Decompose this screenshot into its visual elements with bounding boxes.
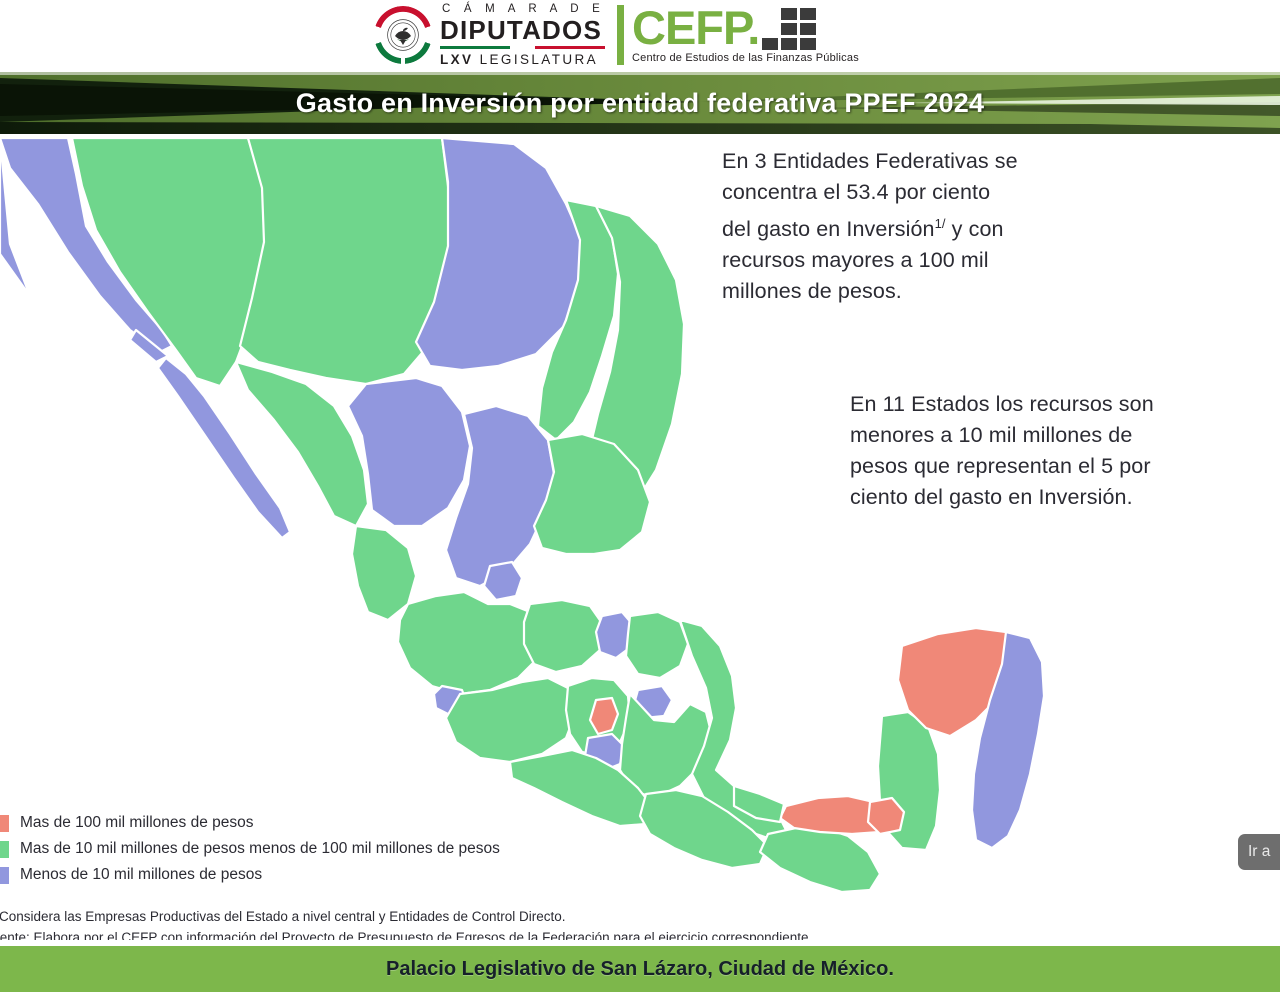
cefp-grid-icon bbox=[762, 8, 816, 50]
camara-line-2: DIPUTADOS bbox=[440, 17, 605, 43]
legend-item-menos-10-mil: Menos de 10 mil millones de pesos bbox=[0, 862, 700, 888]
footer-bar: Palacio Legislativo de San Lázaro, Ciuda… bbox=[0, 946, 1280, 992]
legend-label-0: Mas de 100 mil millones de pesos bbox=[20, 814, 253, 832]
ir-a-button[interactable]: Ir a bbox=[1238, 834, 1280, 870]
legend-swatch-green bbox=[0, 841, 9, 858]
legend-label-2: Menos de 10 mil millones de pesos bbox=[20, 866, 262, 884]
legislature-roman: LXV bbox=[440, 52, 473, 67]
callout-2-line-2: menores a 10 mil millones de bbox=[850, 420, 1265, 451]
callout-1-line-3b: y con bbox=[946, 217, 1004, 241]
camara-legislature: LXV LEGISLATURA bbox=[440, 53, 605, 67]
page-title: Gasto en Inversión por entidad federativ… bbox=[0, 72, 1280, 134]
state-jalisco[interactable] bbox=[398, 592, 542, 694]
cefp-subtitle: Centro de Estudios de las Finanzas Públi… bbox=[632, 52, 859, 64]
legend-item-mas-100-mil: Mas de 100 mil millones de pesos bbox=[0, 810, 700, 836]
callout-1-line-2: concentra el 53.4 por ciento bbox=[722, 177, 1118, 208]
callout-1-line-5: millones de pesos. bbox=[722, 276, 1118, 307]
callout-1-line-4: recursos mayores a 100 mil bbox=[722, 245, 1118, 276]
legend-label-1: Mas de 10 mil millones de pesos menos de… bbox=[20, 840, 500, 858]
map-legend: Mas de 100 mil millones de pesos Mas de … bbox=[0, 810, 700, 888]
callout-text-2: En 11 Estados los recursos son menores a… bbox=[850, 389, 1265, 513]
logo-group: C Á M A R A D E DIPUTADOS LXV LEGISLATUR… bbox=[372, 2, 859, 68]
logo-divider bbox=[617, 5, 624, 65]
state-hidalgo[interactable] bbox=[626, 612, 688, 678]
slide-body: En 3 Entidades Federativas se concentra … bbox=[0, 134, 1280, 946]
callout-1-line-1: En 3 Entidades Federativas se bbox=[722, 146, 1118, 177]
camara-tricolor-rule bbox=[440, 46, 605, 49]
callout-text-1: En 3 Entidades Federativas se concentra … bbox=[722, 146, 1118, 307]
callout-2-line-1: En 11 Estados los recursos son bbox=[850, 389, 1265, 420]
title-banner: Gasto en Inversión por entidad federativ… bbox=[0, 72, 1280, 134]
legend-item-10-a-100-mil: Mas de 10 mil millones de pesos menos de… bbox=[0, 836, 700, 862]
footer-text: Palacio Legislativo de San Lázaro, Ciuda… bbox=[386, 958, 894, 981]
state-chiapas[interactable] bbox=[760, 828, 880, 892]
callout-2-line-4: ciento del gasto en Inversión. bbox=[850, 482, 1265, 513]
state-guanajuato[interactable] bbox=[524, 600, 604, 672]
legend-swatch-red bbox=[0, 815, 9, 832]
callout-1-line-3a: del gasto en Inversión bbox=[722, 217, 935, 241]
header-logo-bar: C Á M A R A D E DIPUTADOS LXV LEGISLATUR… bbox=[0, 0, 1280, 72]
legislature-word: LEGISLATURA bbox=[480, 52, 598, 67]
cefp-logo: CEFP. Centro de Estudios de las Finanzas… bbox=[632, 6, 859, 64]
cefp-acronym: CEFP. bbox=[632, 6, 759, 51]
footnote-marker: 1/ bbox=[935, 216, 946, 231]
state-aguascalientes[interactable] bbox=[484, 562, 522, 600]
camara-diputados-seal-icon bbox=[372, 4, 434, 66]
legend-swatch-blue bbox=[0, 867, 9, 884]
camara-line-1: C Á M A R A D E bbox=[440, 4, 605, 16]
camara-wordmark: C Á M A R A D E DIPUTADOS LXV LEGISLATUR… bbox=[440, 4, 605, 66]
callout-1-line-3: del gasto en Inversión1/ y con bbox=[722, 208, 1118, 245]
footnote-1: 1/ Considera las Empresas Productivas de… bbox=[0, 906, 1084, 927]
callout-2-line-3: pesos que representan el 5 por bbox=[850, 451, 1265, 482]
